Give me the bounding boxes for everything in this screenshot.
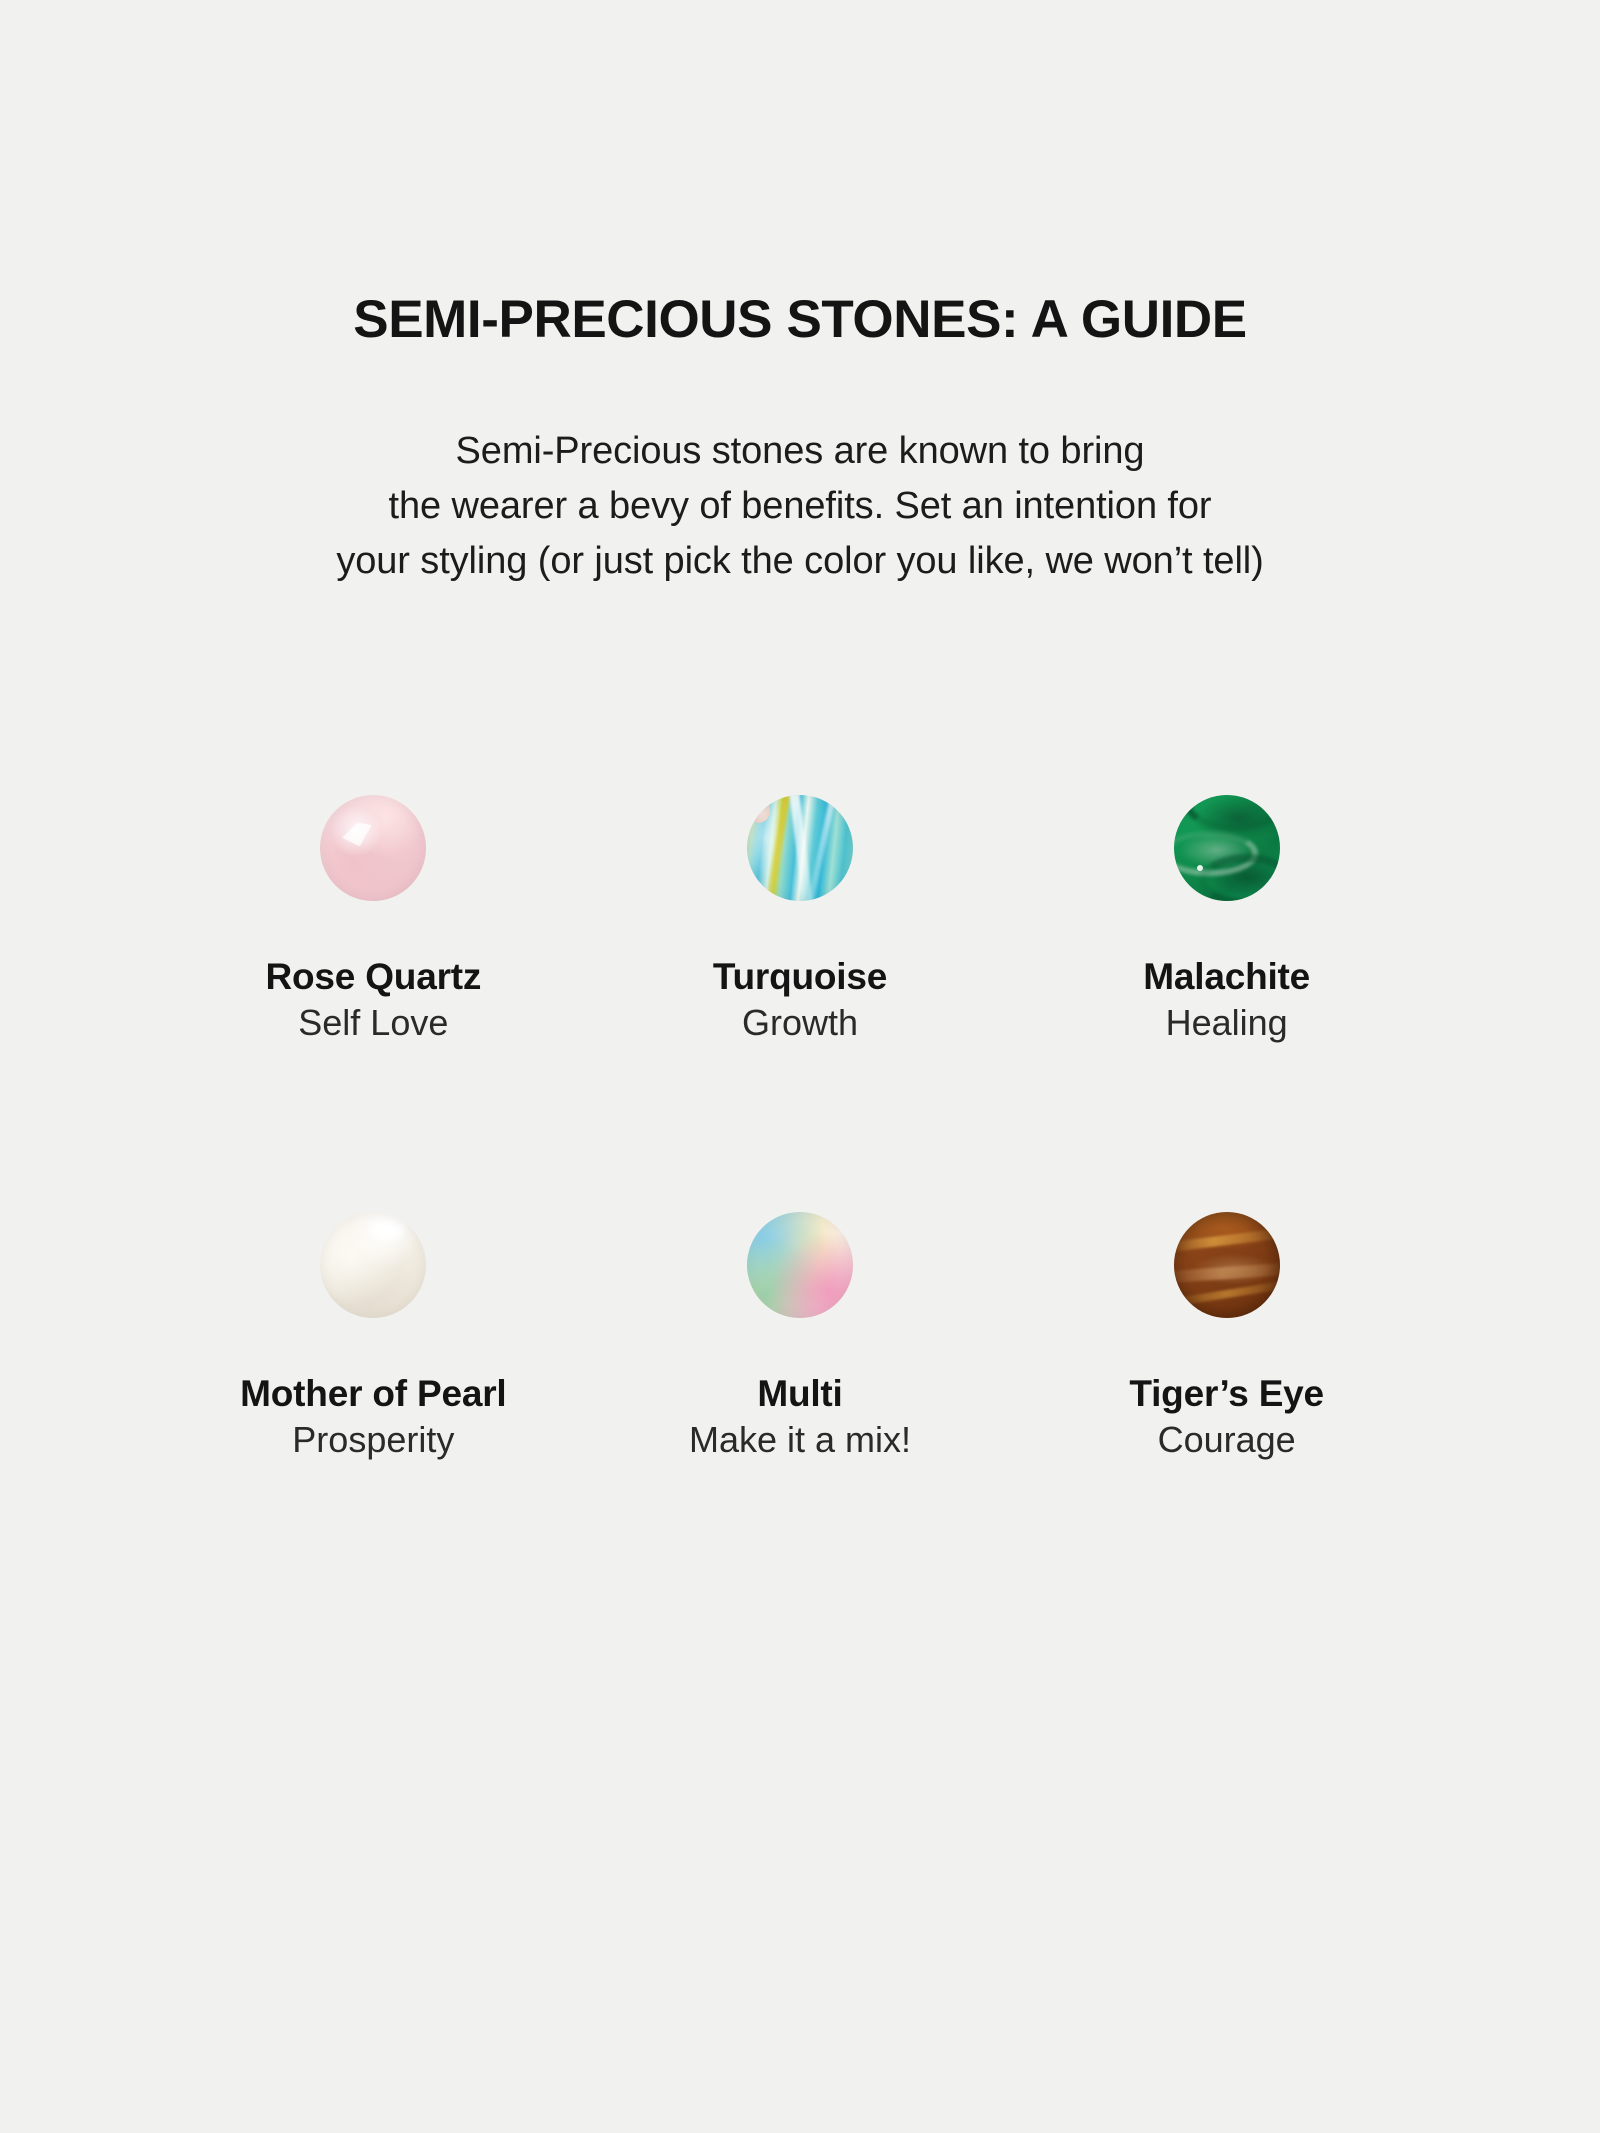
- intro-paragraph: Semi-Precious stones are known to bring …: [0, 424, 1600, 589]
- intro-line-1: Semi-Precious stones are known to bring: [0, 424, 1600, 479]
- tigers-eye-edge-shadow: [1174, 1212, 1280, 1318]
- malachite-band-light-mid: [1174, 831, 1259, 876]
- pearl-sheen-highlight: [369, 1220, 405, 1239]
- stone-name: Rose Quartz: [265, 956, 481, 997]
- page-header: SEMI-PRECIOUS STONES: A GUIDE: [0, 292, 1600, 348]
- tigers-eye-streak-top: [1174, 1227, 1280, 1253]
- stone-meaning: Prosperity: [292, 1420, 454, 1460]
- stone-name: Malachite: [1143, 956, 1310, 997]
- tigers-eye-streak-bottom: [1174, 1280, 1280, 1310]
- stone-name: Mother of Pearl: [240, 1373, 506, 1414]
- tigers-eye-swatch[interactable]: [1174, 1212, 1280, 1318]
- multi-swatch[interactable]: [747, 1212, 853, 1318]
- stone-meaning: Courage: [1158, 1420, 1296, 1460]
- mother-of-pearl-swatch[interactable]: [320, 1212, 426, 1318]
- stone-grid: Rose Quartz Self Love Turquoise Growth M…: [160, 795, 1440, 1461]
- stone-card-rose-quartz[interactable]: Rose Quartz Self Love: [160, 795, 587, 1044]
- malachite-swatch[interactable]: [1174, 795, 1280, 901]
- page-title: SEMI-PRECIOUS STONES: A GUIDE: [0, 292, 1600, 348]
- stone-card-turquoise[interactable]: Turquoise Growth: [587, 795, 1014, 1044]
- rose-quartz-facet-highlight: [339, 818, 376, 850]
- tigers-eye-streak-mid: [1174, 1262, 1280, 1283]
- rose-quartz-swatch[interactable]: [320, 795, 426, 901]
- stone-card-mother-of-pearl[interactable]: Mother of Pearl Prosperity: [160, 1212, 587, 1461]
- turquoise-swatch[interactable]: [747, 795, 853, 901]
- turquoise-white-vein: [788, 795, 813, 901]
- stone-card-multi[interactable]: Multi Make it a mix!: [587, 1212, 1014, 1461]
- intro-line-3: your styling (or just pick the color you…: [0, 534, 1600, 589]
- stone-name: Turquoise: [713, 956, 887, 997]
- stone-card-malachite[interactable]: Malachite Healing: [1013, 795, 1440, 1044]
- turquoise-light-vein: [805, 795, 839, 901]
- turquoise-gold-vein: [764, 795, 792, 901]
- malachite-band-dark-top: [1184, 795, 1279, 831]
- stone-guide-page: SEMI-PRECIOUS STONES: A GUIDE Semi-Preci…: [0, 0, 1600, 2133]
- stone-meaning: Healing: [1166, 1003, 1288, 1043]
- intro-line-2: the wearer a bevy of benefits. Set an in…: [0, 479, 1600, 534]
- stone-name: Multi: [757, 1373, 842, 1414]
- turquoise-matrix-corner: [747, 797, 770, 822]
- malachite-speck: [1197, 865, 1203, 871]
- stone-name: Tiger’s Eye: [1129, 1373, 1324, 1414]
- malachite-band-dark-bottom: [1199, 854, 1280, 901]
- stone-meaning: Make it a mix!: [689, 1420, 911, 1460]
- stone-meaning: Growth: [742, 1003, 858, 1043]
- stone-meaning: Self Love: [298, 1003, 448, 1043]
- stone-card-tigers-eye[interactable]: Tiger’s Eye Courage: [1013, 1212, 1440, 1461]
